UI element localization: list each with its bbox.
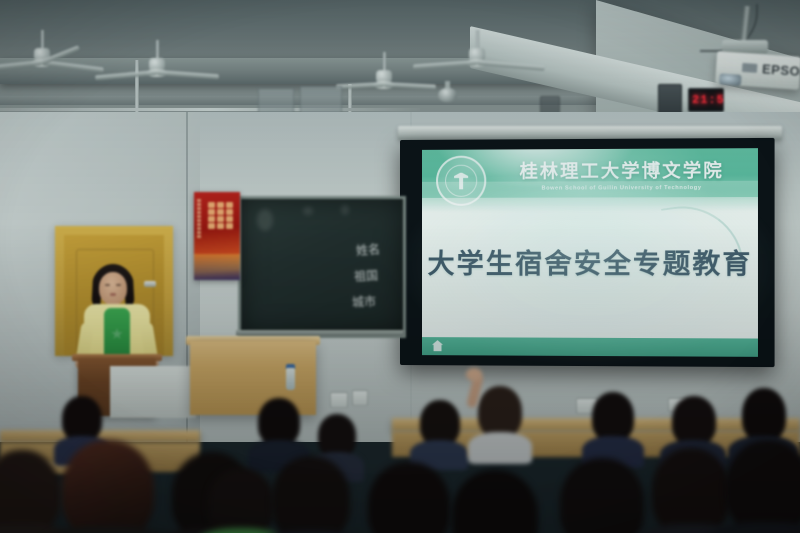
conduit-pipe-horizontal xyxy=(0,108,420,111)
presentation-slide: 桂林理工大学博文学院 Bowen School of Guilin Univer… xyxy=(422,148,758,357)
audience-head xyxy=(592,392,634,442)
audience-head xyxy=(258,398,300,446)
audience-head xyxy=(742,388,786,442)
blackboard: 姓名 祖国 城市 xyxy=(238,196,406,338)
ceiling-fan-center xyxy=(475,30,479,70)
ceiling-fan-right xyxy=(382,52,386,92)
blackboard-line-1: 姓名 xyxy=(355,240,380,259)
slide-school-name-en: Bowen School of Guilin University of Tec… xyxy=(494,185,749,192)
presenter xyxy=(66,262,168,382)
presenter-head xyxy=(99,272,127,305)
audience-head xyxy=(726,440,800,533)
emblem-mark-icon xyxy=(454,172,468,189)
ceiling-fan-left xyxy=(40,30,44,70)
water-bottle xyxy=(286,368,295,390)
screen-housing-label xyxy=(764,129,766,135)
projector-lens xyxy=(719,73,742,86)
slide-school-name-cn: 桂林理工大学博文学院 xyxy=(494,156,749,183)
raised-hand xyxy=(466,368,482,381)
chalk-smudge xyxy=(341,205,349,215)
poster-column xyxy=(208,202,215,229)
front-counter xyxy=(110,366,196,418)
epson-projector: EPSON xyxy=(715,51,800,90)
poster-bottom-art xyxy=(194,254,240,280)
blackboard-line-3: 城市 xyxy=(352,292,377,310)
audience-head xyxy=(368,462,450,533)
audience-head xyxy=(452,470,538,533)
poster-column xyxy=(217,202,224,229)
wall-outlet xyxy=(330,392,348,408)
wall-outlet xyxy=(352,390,368,406)
wall-poster-core-values xyxy=(194,192,240,280)
slide-footer-band xyxy=(422,337,758,357)
led-clock-value: 21:56 xyxy=(692,93,724,107)
projection-screen: 桂林理工大学博文学院 Bowen School of Guilin Univer… xyxy=(400,138,775,367)
emblem-inner-ring xyxy=(445,165,477,197)
audience-head xyxy=(560,458,644,533)
chalk-smudge xyxy=(257,209,273,231)
ceiling-fan-left-b xyxy=(155,40,159,80)
audience-head xyxy=(478,386,522,438)
epson-logo-icon xyxy=(742,63,758,73)
university-seal-emblem xyxy=(436,156,486,206)
audience-head xyxy=(652,448,730,533)
audience-head xyxy=(208,468,274,533)
security-camera-dome-icon xyxy=(438,88,457,102)
blackboard-line-2: 祖国 xyxy=(354,266,379,284)
poster-column xyxy=(226,202,233,229)
lecture-hall-photo: 21:56 EPSON 桂林理工大学博文学院 Bowen School of G xyxy=(0,0,800,533)
home-icon xyxy=(432,340,443,351)
slide-main-title: 大学生宿舍安全专题教育 xyxy=(422,242,758,282)
slide-school-identity: 桂林理工大学博文学院 Bowen School of Guilin Univer… xyxy=(494,156,749,191)
audience-head xyxy=(272,456,350,533)
chalk-smudge xyxy=(303,207,313,215)
shirt-motif xyxy=(111,328,123,340)
audience-head xyxy=(62,440,154,533)
audience-shoulders xyxy=(468,432,532,464)
led-clock-display: 21:56 xyxy=(688,88,724,112)
projector-brand-label: EPSON xyxy=(762,61,800,79)
poster-side-text xyxy=(197,199,201,238)
audience-head xyxy=(672,396,716,446)
teacher-desk xyxy=(190,341,316,415)
